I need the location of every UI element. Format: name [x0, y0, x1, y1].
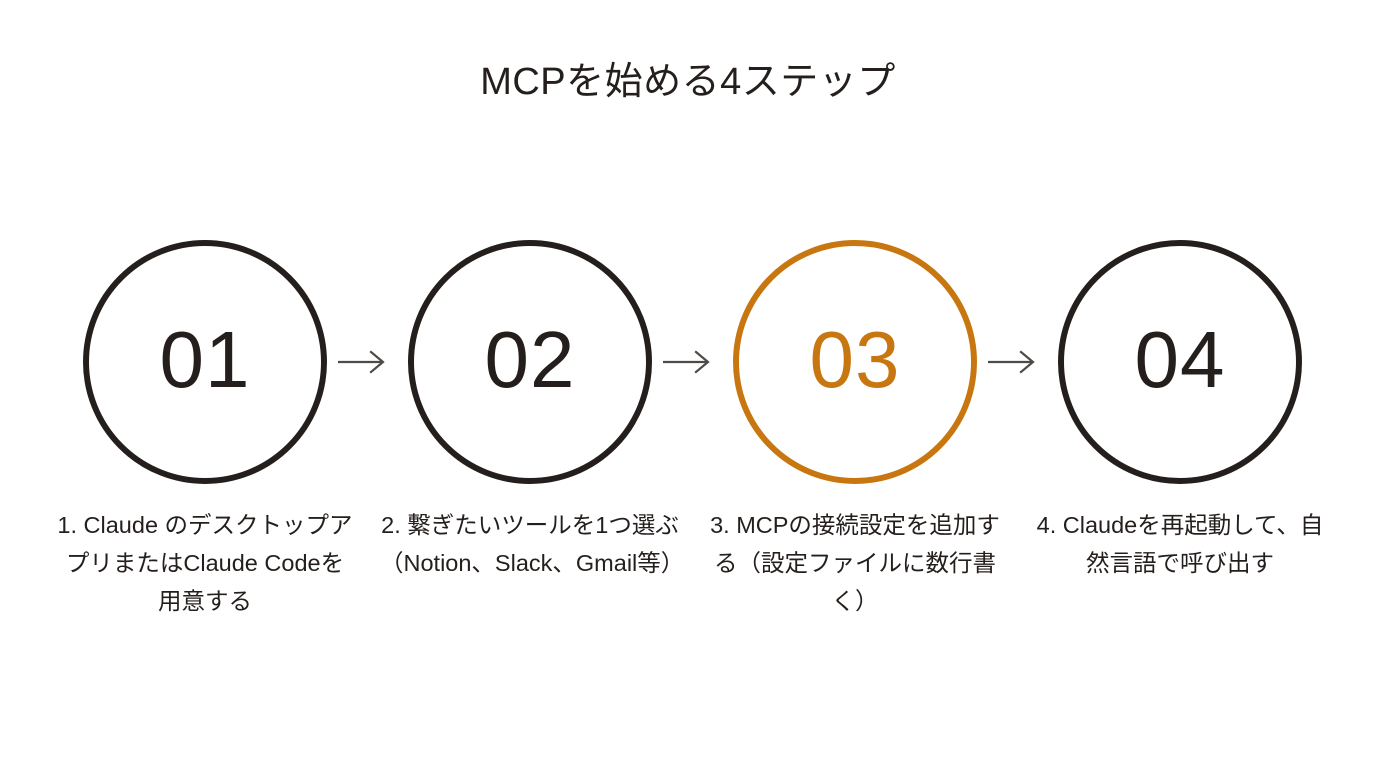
step-circle-01[interactable]: 01 [83, 240, 327, 484]
slide-canvas: MCPを始める4ステップ 01 02 03 04 [0, 0, 1376, 768]
arrow-step3-to-step4-icon [987, 345, 1039, 379]
step-item-02[interactable]: 02 [408, 240, 652, 484]
step-circle-04[interactable]: 04 [1058, 240, 1302, 484]
step-number-03: 03 [810, 320, 901, 400]
step-circle-02[interactable]: 02 [408, 240, 652, 484]
page-title: MCPを始める4ステップ [0, 60, 1376, 106]
arrow-step2-to-step3-icon [662, 345, 714, 379]
step-caption-02: 2. 繋ぎたいツールを1つ選ぶ（Notion、Slack、Gmail等） [380, 506, 680, 582]
step-item-03[interactable]: 03 [733, 240, 977, 484]
step-circle-03[interactable]: 03 [733, 240, 977, 484]
step-caption-04: 4. Claudeを再起動して、自然言語で呼び出す [1030, 506, 1330, 582]
step-number-01: 01 [160, 320, 251, 400]
step-caption-03: 3. MCPの接続設定を追加する（設定ファイルに数行書く） [705, 506, 1005, 620]
captions-row: 1. Claude のデスクトップアプリまたはClaude Codeを用意する … [0, 506, 1376, 646]
arrow-step1-to-step2-icon [337, 345, 389, 379]
step-caption-01: 1. Claude のデスクトップアプリまたはClaude Codeを用意する [55, 506, 355, 620]
step-item-01[interactable]: 01 [83, 240, 327, 484]
step-number-02: 02 [485, 320, 576, 400]
step-item-04[interactable]: 04 [1058, 240, 1302, 484]
step-number-04: 04 [1135, 320, 1226, 400]
